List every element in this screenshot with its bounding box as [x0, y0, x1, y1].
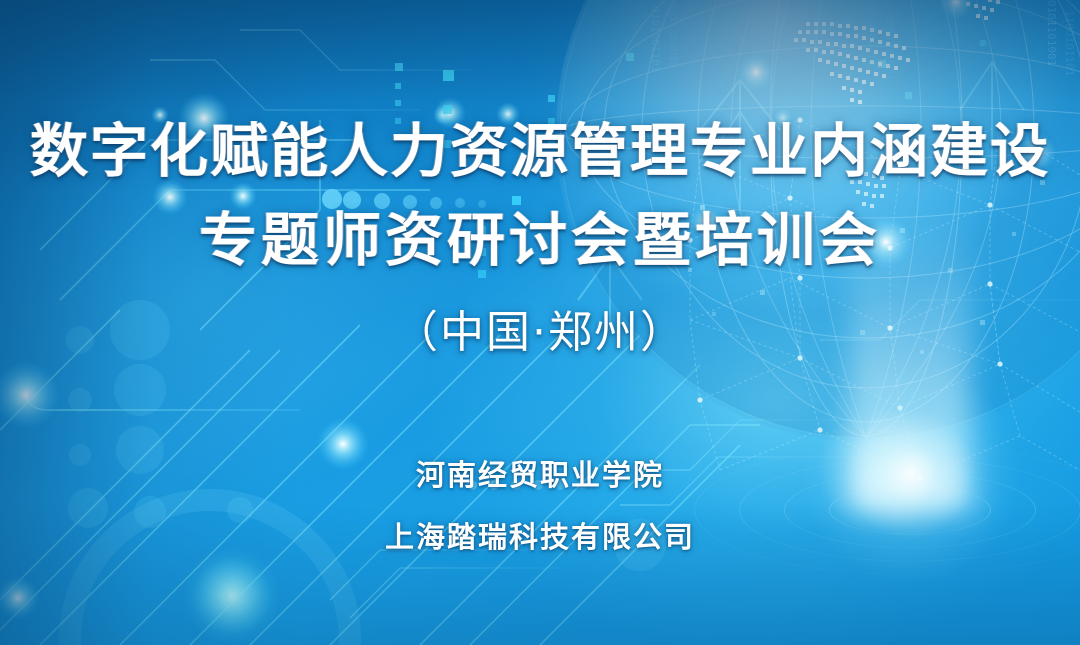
- location-subtitle: （中国·郑州）: [394, 307, 686, 360]
- organizer-line-2: 上海踏瑞科技有限公司: [385, 514, 695, 556]
- banner-content: 数字化赋能人力资源管理专业内涵建设 专题师资研讨会暨培训会 （中国·郑州） 河南…: [0, 0, 1080, 645]
- conference-banner: 0101001101 1011010010 0110100110 1001011…: [0, 0, 1080, 645]
- organizer-line-1: 河南经贸职业学院: [416, 452, 664, 494]
- title-line-1: 数字化赋能人力资源管理专业内涵建设: [30, 118, 1050, 185]
- title-line-2: 专题师资研讨会暨培训会: [199, 207, 881, 274]
